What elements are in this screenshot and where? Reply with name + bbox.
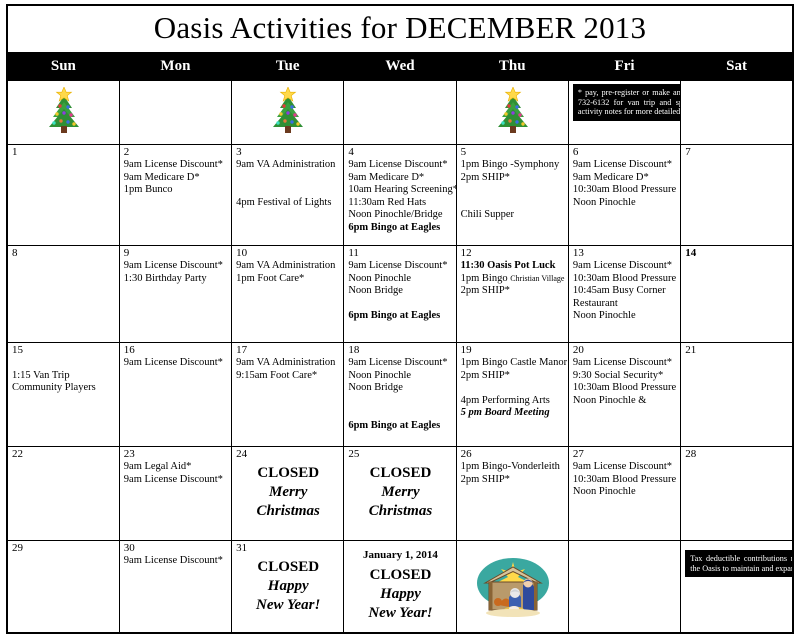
day-cell-9[interactable]: 99am License Discount*1:30 Birthday Part… (119, 246, 231, 343)
calendar-week-row: 899am License Discount*1:30 Birthday Par… (7, 246, 793, 343)
closed-notice: CLOSEDMerryChristmas (348, 464, 452, 521)
event-spacer (348, 407, 452, 420)
event-item[interactable]: Noon Pinochle (573, 197, 677, 210)
day-cell-27[interactable]: 279am License Discount* 10:30am Blood Pr… (568, 447, 680, 541)
event-item[interactable]: 9am License Discount* (124, 357, 228, 370)
weekday-header-sat: Sat (681, 53, 793, 80)
day-cell-28[interactable]: 28 (681, 447, 793, 541)
nativity-art (461, 542, 565, 630)
calendar-table: Oasis Activities for DECEMBER 2013 SunMo… (6, 4, 794, 634)
event-item[interactable]: Noon Bridge (348, 285, 452, 298)
event-list: 1pm Bingo -Symphony2pm SHIP* Chili Suppe… (461, 159, 565, 222)
event-venue: Christian Village (510, 274, 564, 283)
event-item[interactable]: 1pm Foot Care* (236, 273, 340, 286)
event-list: 9am License Discount*Noon PinochleNoon B… (348, 357, 452, 433)
event-item[interactable]: 10am Hearing Screening* (348, 184, 452, 197)
christmas-tree-art (461, 82, 565, 142)
day-number: 27 (573, 448, 677, 460)
event-item[interactable]: 9am License Discount* (124, 474, 228, 487)
event-list: 9am License Discount*Noon PinochleNoon B… (348, 260, 452, 323)
event-item[interactable]: 9:15am Foot Care* (236, 370, 340, 383)
day-cell-11[interactable]: 119am License Discount*Noon PinochleNoon… (344, 246, 456, 343)
event-item[interactable]: 9am License Discount* (573, 357, 677, 370)
day-number: 25 (348, 448, 452, 460)
day-number: 24 (236, 448, 340, 460)
day-number: 21 (685, 344, 789, 356)
event-item[interactable]: 1pm Bunco (124, 184, 228, 197)
event-item[interactable]: 2pm SHIP* (461, 172, 565, 185)
event-item[interactable]: 1pm Bingo Castle Manor (461, 357, 565, 370)
closed-notice: CLOSEDHappyNew Year! (236, 558, 340, 615)
weekday-header-thu: Thu (456, 53, 568, 80)
event-item[interactable]: 9am Legal Aid* (124, 461, 228, 474)
event-spacer (461, 197, 565, 210)
day-number: 26 (461, 448, 565, 460)
day-number: 30 (124, 542, 228, 554)
event-list: 9am License Discount* (124, 555, 228, 568)
event-item[interactable]: 10:30am Blood Pressure (573, 474, 677, 487)
event-item[interactable]: 2pm SHIP* (461, 370, 565, 383)
day-cell-30[interactable]: 309am License Discount* (119, 541, 231, 634)
closed-notice-line: CLOSED (236, 558, 340, 577)
day-cell-14[interactable]: 14 (681, 246, 793, 343)
event-item[interactable]: Noon Bridge (348, 382, 452, 395)
day-number: 20 (573, 344, 677, 356)
day-cell-16[interactable]: 169am License Discount* (119, 343, 231, 447)
event-item[interactable]: 2pm SHIP* (461, 285, 565, 298)
christmas-tree-icon (266, 87, 310, 137)
day-cell-29[interactable]: 29 (7, 541, 119, 634)
event-item[interactable]: 9am License Discount* (124, 260, 228, 273)
event-item[interactable]: Noon Pinochle/Bridge (348, 209, 452, 222)
day-cell-4[interactable]: 49am License Discount*9am Medicare D*10a… (344, 145, 456, 246)
event-spacer (461, 382, 565, 395)
event-item[interactable]: 9am License Discount* (348, 260, 452, 273)
day-cell-empty[interactable] (568, 541, 680, 634)
event-spacer (236, 184, 340, 197)
day-cell-1[interactable]: 1 (7, 145, 119, 246)
calendar-page: Oasis Activities for DECEMBER 2013 SunMo… (0, 0, 800, 608)
closed-notice-greeting: Happy (236, 577, 340, 596)
day-cell-5[interactable]: 51pm Bingo -Symphony2pm SHIP* Chili Supp… (456, 145, 568, 246)
closed-notice-heading: January 1, 2014 (348, 546, 452, 565)
event-item[interactable]: 9:30 Social Security* (573, 370, 677, 383)
page-title: Oasis Activities for DECEMBER 2013 (154, 10, 646, 45)
closed-notice: CLOSEDMerryChristmas (236, 464, 340, 521)
day-number: 23 (124, 448, 228, 460)
calendar-week-row: 29309am License Discount*31CLOSEDHappyNe… (7, 541, 793, 634)
day-number: 5 (461, 146, 565, 158)
event-list: 9am License Discount* 10:30am Blood Pres… (573, 461, 677, 499)
closed-notice-line: CLOSED (236, 464, 340, 483)
day-cell-22[interactable]: 22 (7, 447, 119, 541)
day-number: 1 (12, 146, 116, 158)
day-number: 16 (124, 344, 228, 356)
event-item[interactable]: 10:30am Blood Pressure (573, 184, 677, 197)
christmas-tree-icon (491, 87, 535, 137)
event-item[interactable]: 10:30am Blood Pressure (573, 273, 677, 286)
weekday-header-wed: Wed (344, 53, 456, 80)
event-list: 9am License Discount*9am Medicare D* 1pm… (124, 159, 228, 197)
event-item[interactable]: 6pm Bingo at Eagles (348, 222, 452, 235)
day-cell-18[interactable]: 189am License Discount*Noon PinochleNoon… (344, 343, 456, 447)
event-item[interactable]: 4pm Performing Arts (461, 395, 565, 408)
day-number: 9 (124, 247, 228, 259)
event-item[interactable]: 9am VA Administration (236, 159, 340, 172)
christmas-tree-art (12, 82, 116, 142)
day-cell-6[interactable]: 69am License Discount*9am Medicare D* 10… (568, 145, 680, 246)
event-item[interactable]: 9am License Discount* (573, 159, 677, 172)
event-item[interactable]: 9am License Discount* (573, 461, 677, 474)
day-number: 6 (573, 146, 677, 158)
event-item[interactable]: 1pm Bingo Christian Village (461, 273, 565, 286)
event-item[interactable]: 10:30am Blood Pressure (573, 382, 677, 395)
event-list: 9am VA Administration9:15am Foot Care* (236, 357, 340, 382)
christmas-tree-icon (42, 87, 86, 137)
event-list: 1:15 Van TripCommunity Players (12, 357, 116, 395)
event-item[interactable]: 1pm Bingo -Symphony (461, 159, 565, 172)
event-list: 9am VA Administration 4pm Festival of Li… (236, 159, 340, 209)
day-cell-empty[interactable] (7, 80, 119, 145)
closed-notice: January 1, 2014CLOSEDHappyNew Year! (348, 546, 452, 623)
day-number: 2 (124, 146, 228, 158)
event-list: 9am VA Administration1pm Foot Care* (236, 260, 340, 285)
day-cell-2[interactable]: 29am License Discount*9am Medicare D* 1p… (119, 145, 231, 246)
day-cell-empty[interactable]: January 1, 2014CLOSEDHappyNew Year! (344, 541, 456, 634)
day-cell-25[interactable]: 25CLOSEDMerryChristmas (344, 447, 456, 541)
event-item[interactable]: 9am License Discount* (573, 260, 677, 273)
event-item[interactable]: Community Players (12, 382, 116, 395)
event-item[interactable]: Noon Pinochle (348, 370, 452, 383)
calendar-week-row: 22239am Legal Aid*9am License Discount*2… (7, 447, 793, 541)
day-cell-empty[interactable] (232, 80, 344, 145)
weekday-header-fri: Fri (568, 53, 680, 80)
weekday-header-sun: Sun (7, 53, 119, 80)
closed-notice-greeting: Christmas (236, 502, 340, 521)
day-cell-21[interactable]: 21 (681, 343, 793, 447)
day-number: 8 (12, 247, 116, 259)
closed-notice-greeting: Merry (348, 483, 452, 502)
closed-notice-greeting: Happy (348, 585, 452, 604)
closed-notice-greeting: New Year! (236, 596, 340, 615)
closed-notice-line: CLOSED (348, 464, 452, 483)
day-cell-empty[interactable]: * pay, pre-register or make an appointme… (568, 80, 680, 145)
event-item[interactable]: 11:30am Red Hats (348, 197, 452, 210)
day-number: 19 (461, 344, 565, 356)
weekday-header-mon: Mon (119, 53, 231, 80)
closed-notice-greeting: Merry (236, 483, 340, 502)
note-box-contributions: Tax deductible contributions may be give… (685, 550, 793, 577)
event-list: 9am License Discount*1:30 Birthday Party (124, 260, 228, 285)
event-item[interactable]: 9am License Discount* (124, 555, 228, 568)
event-item[interactable]: 4pm Festival of Lights (236, 197, 340, 210)
note-box-registration: * pay, pre-register or make an appointme… (573, 84, 681, 121)
event-item[interactable]: 1pm Bingo-Vonderleith (461, 461, 565, 474)
day-number: 12 (461, 247, 565, 259)
event-list: 1pm Bingo Castle Manor2pm SHIP* 4pm Perf… (461, 357, 565, 420)
event-item[interactable]: Noon Pinochle (573, 486, 677, 499)
calendar-week-row: 15 1:15 Van TripCommunity Players169am L… (7, 343, 793, 447)
day-cell-17[interactable]: 179am VA Administration9:15am Foot Care* (232, 343, 344, 447)
day-cell-26[interactable]: 261pm Bingo-Vonderleith2pm SHIP* (456, 447, 568, 541)
day-number: 31 (236, 542, 340, 554)
day-number: 7 (685, 146, 789, 158)
day-cell-8[interactable]: 8 (7, 246, 119, 343)
day-cell-empty[interactable] (456, 80, 568, 145)
event-item[interactable]: Restaurant (573, 298, 677, 311)
event-list: 9am License Discount* (124, 357, 228, 370)
event-list: 9am License Discount*9:30 Social Securit… (573, 357, 677, 407)
event-item[interactable]: 9am VA Administration (236, 357, 340, 370)
day-number: 29 (12, 542, 116, 554)
day-cell-empty[interactable]: Tax deductible contributions may be give… (681, 541, 793, 634)
event-list: 9am License Discount*10:30am Blood Press… (573, 260, 677, 323)
day-cell-empty[interactable] (681, 80, 793, 145)
event-item[interactable]: 9am License Discount* (124, 159, 228, 172)
weekday-header-tue: Tue (232, 53, 344, 80)
day-number: 28 (685, 448, 789, 460)
day-number: 15 (12, 344, 116, 356)
day-cell-24[interactable]: 24CLOSEDMerryChristmas (232, 447, 344, 541)
day-cell-empty[interactable] (456, 541, 568, 634)
event-spacer (12, 357, 116, 370)
event-spacer (348, 298, 452, 311)
event-item[interactable]: 2pm SHIP* (461, 474, 565, 487)
event-item[interactable]: 9am License Discount* (348, 357, 452, 370)
christmas-tree-art (236, 82, 340, 142)
event-item[interactable]: Chili Supper (461, 209, 565, 222)
event-item[interactable]: 1:30 Birthday Party (124, 273, 228, 286)
day-cell-20[interactable]: 209am License Discount*9:30 Social Secur… (568, 343, 680, 447)
closed-notice-line: CLOSED (348, 566, 452, 585)
day-number: 10 (236, 247, 340, 259)
event-list: 9am Legal Aid*9am License Discount* (124, 461, 228, 486)
day-cell-15[interactable]: 15 1:15 Van TripCommunity Players (7, 343, 119, 447)
weekday-header-row: SunMonTueWedThuFriSat (7, 53, 793, 80)
event-item[interactable]: 6pm Bingo at Eagles (348, 310, 452, 323)
event-text: 1pm Bingo (461, 273, 511, 284)
day-number: 22 (12, 448, 116, 460)
event-item[interactable]: 9am Medicare D* (124, 172, 228, 185)
day-cell-7[interactable]: 7 (681, 145, 793, 246)
closed-notice-greeting: New Year! (348, 604, 452, 623)
event-item[interactable]: 11:30 Oasis Pot Luck (461, 260, 565, 273)
event-spacer (348, 395, 452, 408)
event-list: 9am License Discount*9am Medicare D*10am… (348, 159, 452, 235)
calendar-title-cell: Oasis Activities for DECEMBER 2013 (7, 5, 793, 53)
day-cell-empty[interactable] (344, 80, 456, 145)
event-item[interactable]: 6pm Bingo at Eagles (348, 420, 452, 433)
day-number: 18 (348, 344, 452, 356)
closed-notice-greeting: Christmas (348, 502, 452, 521)
event-item[interactable]: 1:15 Van Trip (12, 370, 116, 383)
event-item[interactable]: 9am License Discount* (348, 159, 452, 172)
event-item[interactable]: Noon Pinochle & (573, 395, 677, 408)
event-item[interactable]: 9am Medicare D* (348, 172, 452, 185)
day-cell-empty[interactable] (119, 80, 231, 145)
day-number: 11 (348, 247, 452, 259)
day-number: 3 (236, 146, 340, 158)
event-list: 9am License Discount*9am Medicare D* 10:… (573, 159, 677, 209)
event-spacer (236, 172, 340, 185)
calendar-week-row: 129am License Discount*9am Medicare D* 1… (7, 145, 793, 246)
day-number: 13 (573, 247, 677, 259)
nativity-scene-icon (465, 553, 561, 619)
event-item[interactable]: 9am Medicare D* (573, 172, 677, 185)
event-item[interactable]: 9am VA Administration (236, 260, 340, 273)
event-list: 1pm Bingo-Vonderleith2pm SHIP* (461, 461, 565, 486)
event-spacer (461, 184, 565, 197)
day-cell-10[interactable]: 109am VA Administration1pm Foot Care* (232, 246, 344, 343)
day-cell-31[interactable]: 31CLOSEDHappyNew Year! (232, 541, 344, 634)
day-cell-12[interactable]: 1211:30 Oasis Pot Luck1pm Bingo Christia… (456, 246, 568, 343)
calendar-title-row: Oasis Activities for DECEMBER 2013 (7, 5, 793, 53)
event-item[interactable]: Noon Pinochle (348, 273, 452, 286)
event-item[interactable]: Noon Pinochle (573, 310, 677, 323)
calendar-week-row: * pay, pre-register or make an appointme… (7, 80, 793, 145)
day-number: 17 (236, 344, 340, 356)
event-list: 11:30 Oasis Pot Luck1pm Bingo Christian … (461, 260, 565, 298)
day-cell-13[interactable]: 139am License Discount*10:30am Blood Pre… (568, 246, 680, 343)
day-cell-23[interactable]: 239am Legal Aid*9am License Discount* (119, 447, 231, 541)
day-cell-19[interactable]: 191pm Bingo Castle Manor2pm SHIP* 4pm Pe… (456, 343, 568, 447)
event-item[interactable]: 10:45am Busy Corner (573, 285, 677, 298)
day-number: 14 (685, 247, 789, 259)
day-number: 4 (348, 146, 452, 158)
day-cell-3[interactable]: 39am VA Administration 4pm Festival of L… (232, 145, 344, 246)
event-item[interactable]: 5 pm Board Meeting (461, 407, 565, 420)
